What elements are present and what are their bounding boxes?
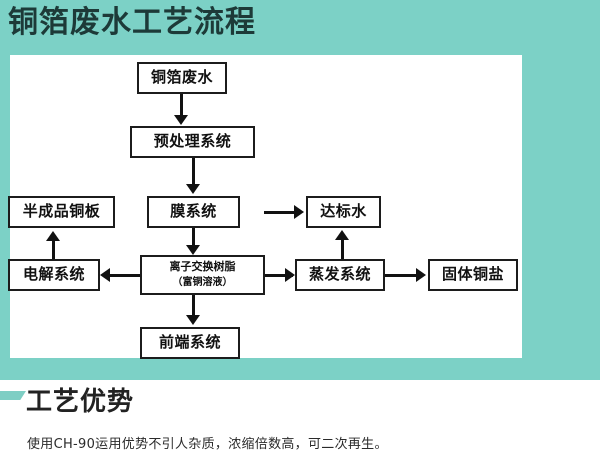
arrowhead-evap-to-water: [335, 230, 349, 240]
page-title: 铜箔废水工艺流程: [8, 2, 256, 44]
flow-node-label: 电解系统: [23, 266, 85, 283]
arrowhead-resin-to-electro: [100, 268, 110, 282]
arrowhead-resin-to-front: [186, 315, 200, 325]
flow-node-raw-wastewater[interactable]: 铜箔废水: [137, 62, 227, 94]
connector-evap-to-water: [341, 240, 344, 261]
connector-resin-to-electro: [110, 274, 142, 277]
flow-node-electrolysis-system[interactable]: 电解系统: [8, 259, 100, 291]
flow-node-label: 膜系统: [170, 203, 217, 220]
connector-resin-to-front: [192, 294, 195, 316]
advantages-heading: 工艺优势: [26, 385, 134, 419]
flow-node-solid-copper-salt[interactable]: 固体铜盐: [428, 259, 518, 291]
arrowhead-membrane-to-water: [294, 205, 304, 219]
arrowhead-resin-to-evap: [285, 268, 295, 282]
flow-node-front-end-system[interactable]: 前端系统: [140, 327, 240, 359]
flow-node-semifinished-copper-plate[interactable]: 半成品铜板: [8, 196, 115, 228]
flow-node-label: 半成品铜板: [23, 203, 101, 220]
connector-electro-to-semi: [52, 240, 55, 261]
arrowhead-raw-to-pretreat: [174, 115, 188, 125]
flow-node-label: 离子交换树脂: [170, 261, 236, 274]
arrowhead-pretreat-to-membrane: [186, 184, 200, 194]
flow-node-label: 达标水: [320, 203, 367, 220]
flow-node-sublabel: （富铜溶液）: [173, 277, 233, 289]
advantages-body-text: 使用CH-90运用优势不引人杂质，浓缩倍数高，可二次再生。: [27, 433, 388, 452]
connector-pretreat-to-membrane: [192, 158, 195, 185]
connector-raw-to-pretreat: [180, 94, 183, 116]
flow-node-label: 预处理系统: [154, 133, 232, 150]
flow-node-membrane-system[interactable]: 膜系统: [147, 196, 240, 228]
flow-node-pretreatment-system[interactable]: 预处理系统: [130, 126, 255, 158]
accent-ribbon-icon: [0, 391, 26, 400]
connector-membrane-to-resin: [192, 228, 195, 246]
connector-membrane-to-water: [264, 211, 296, 214]
flow-node-ion-exchange-resin[interactable]: 离子交换树脂 （富铜溶液）: [140, 255, 265, 295]
arrowhead-membrane-to-resin: [186, 245, 200, 255]
flow-node-label: 前端系统: [159, 334, 221, 351]
page-banner: 铜箔废水工艺流程: [0, 0, 600, 380]
flow-node-compliant-water[interactable]: 达标水: [306, 196, 381, 228]
flow-node-evaporation-system[interactable]: 蒸发系统: [295, 259, 385, 291]
flow-node-label: 铜箔废水: [151, 69, 213, 86]
flow-node-label: 蒸发系统: [309, 266, 371, 283]
connector-evap-to-salt: [384, 274, 418, 277]
advantages-section: 工艺优势 使用CH-90运用优势不引人杂质，浓缩倍数高，可二次再生。: [0, 380, 600, 473]
arrowhead-evap-to-salt: [416, 268, 426, 282]
flow-node-label: 固体铜盐: [442, 266, 504, 283]
arrowhead-electro-to-semi: [46, 231, 60, 241]
